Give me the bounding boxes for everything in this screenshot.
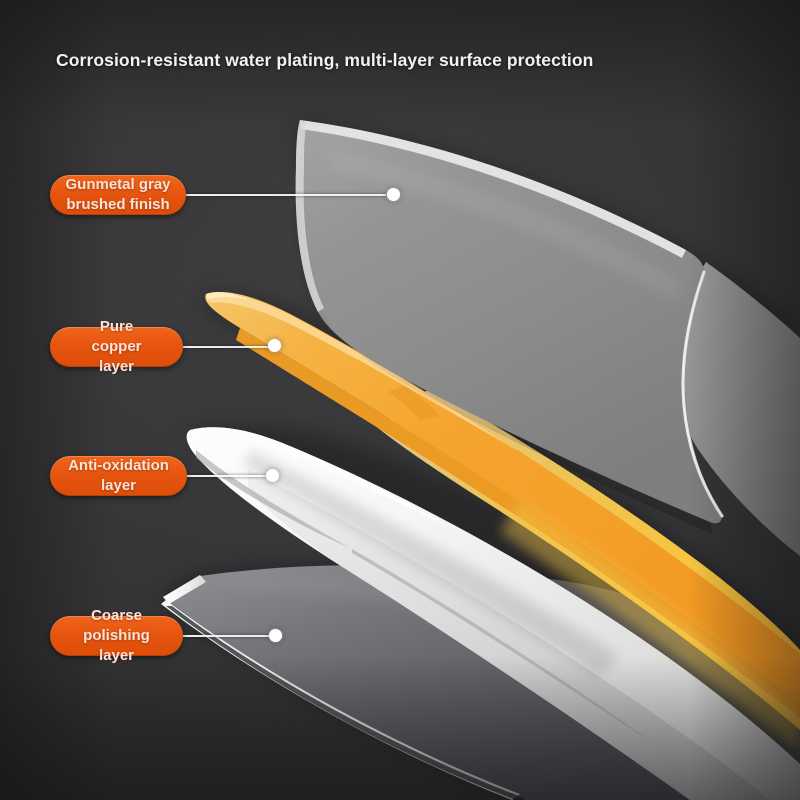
background-vignette [0, 0, 800, 800]
page-title: Corrosion-resistant water plating, multi… [56, 50, 593, 71]
callout-label-pure-copper-layer: Pure copper layer [50, 317, 183, 377]
leader-dot-coarse-polishing-layer[interactable] [269, 629, 282, 642]
callout-label-anti-oxidation-layer: Anti-oxidation layer [50, 456, 187, 496]
leader-line-anti-oxidation-layer [187, 475, 272, 477]
leader-dot-anti-oxidation-layer[interactable] [266, 469, 279, 482]
leader-dot-pure-copper-layer[interactable] [268, 339, 281, 352]
leader-line-coarse-polishing-layer [183, 635, 274, 637]
callout-pill-coarse-polishing-layer[interactable]: Coarse polishing layer [50, 616, 183, 656]
callout-pill-gunmetal-gray-brushed-finish[interactable]: Gunmetal gray brushed finish [50, 175, 186, 215]
leader-line-pure-copper-layer [183, 346, 272, 348]
callout-label-gunmetal-gray-brushed-finish: Gunmetal gray brushed finish [50, 175, 186, 215]
illustration-stage: Corrosion-resistant water plating, multi… [0, 0, 800, 800]
callout-label-coarse-polishing-layer: Coarse polishing layer [50, 606, 183, 666]
leader-line-gunmetal-gray-brushed-finish [186, 194, 386, 196]
callout-pill-anti-oxidation-layer[interactable]: Anti-oxidation layer [50, 456, 187, 496]
callout-pill-pure-copper-layer[interactable]: Pure copper layer [50, 327, 183, 367]
leader-dot-gunmetal-gray-brushed-finish[interactable] [387, 188, 400, 201]
